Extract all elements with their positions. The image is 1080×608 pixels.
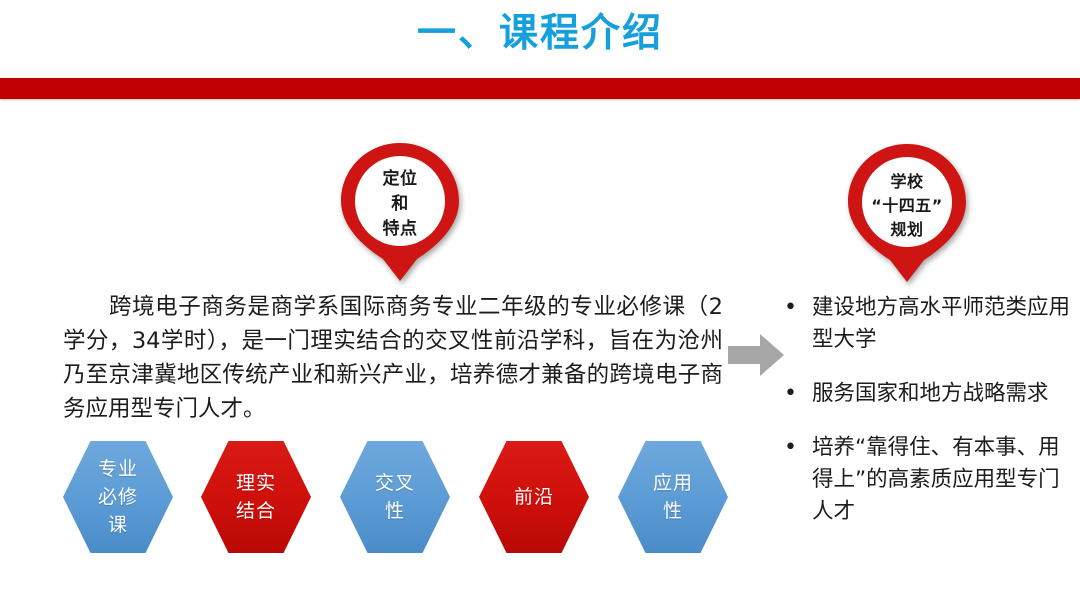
hexagon-line: 专业 bbox=[98, 455, 138, 483]
hexagon-applied: 应用 性 bbox=[618, 441, 728, 553]
course-description-paragraph: 跨境电子商务是商学系国际商务专业二年级的专业必修课（2学分，34学时），是一门理… bbox=[63, 290, 723, 426]
hexagon-label: 应用 性 bbox=[653, 469, 693, 525]
arrow-right-icon bbox=[726, 332, 786, 378]
hexagon-line: 理实 bbox=[236, 469, 276, 497]
school-plan-bullet-list: • 建设地方高水平师范类应用型大学 • 服务国家和地方战略需求 • 培养“靠得住… bbox=[778, 292, 1073, 550]
bullet-marker-icon: • bbox=[778, 378, 812, 410]
list-item: • 服务国家和地方战略需求 bbox=[778, 378, 1073, 410]
list-item: • 建设地方高水平师范类应用型大学 bbox=[778, 292, 1073, 356]
hexagon-line: 课 bbox=[98, 511, 138, 539]
map-pin-label: 定位 和 特点 bbox=[339, 167, 461, 242]
hexagon-line: 结合 bbox=[236, 497, 276, 525]
map-pin-school-plan: 学校 “十四五” 规划 bbox=[846, 142, 968, 284]
header-divider-bar bbox=[0, 78, 1080, 99]
hexagon-line: 性 bbox=[653, 497, 693, 525]
hexagon-line: 应用 bbox=[653, 469, 693, 497]
hexagon-label: 前沿 bbox=[514, 483, 554, 511]
hexagon-interdisciplinary: 交叉 性 bbox=[340, 441, 450, 553]
list-item-label: 建设地方高水平师范类应用型大学 bbox=[812, 292, 1073, 356]
hexagon-major-required-course: 专业 必修 课 bbox=[63, 441, 173, 553]
hexagon-line: 性 bbox=[375, 497, 415, 525]
map-pin-label: 学校 “十四五” 规划 bbox=[846, 170, 968, 242]
pin-line: 特点 bbox=[339, 217, 461, 242]
pin-line: 规划 bbox=[846, 218, 968, 242]
hexagon-line: 前沿 bbox=[514, 483, 554, 511]
bullet-marker-icon: • bbox=[778, 432, 812, 464]
hexagon-cutting-edge: 前沿 bbox=[479, 441, 589, 553]
list-item: • 培养“靠得住、有本事、用得上”的高素质应用型专门人才 bbox=[778, 432, 1073, 528]
hexagon-line: 必修 bbox=[98, 483, 138, 511]
map-pin-positioning: 定位 和 特点 bbox=[339, 141, 461, 283]
page-title: 一、课程介绍 bbox=[0, 8, 1080, 60]
list-item-label: 服务国家和地方战略需求 bbox=[812, 378, 1073, 410]
hexagon-label: 理实 结合 bbox=[236, 469, 276, 525]
hexagon-label: 专业 必修 课 bbox=[98, 455, 138, 539]
hexagon-line: 交叉 bbox=[375, 469, 415, 497]
pin-line: 学校 bbox=[846, 170, 968, 194]
hexagon-theory-practice: 理实 结合 bbox=[201, 441, 311, 553]
bullet-marker-icon: • bbox=[778, 292, 812, 324]
pin-line: 和 bbox=[339, 192, 461, 217]
hexagon-label: 交叉 性 bbox=[375, 469, 415, 525]
pin-line: “十四五” bbox=[846, 194, 968, 218]
pin-line: 定位 bbox=[339, 167, 461, 192]
slide-canvas: 一、课程介绍 定位 和 特点 学校 “十四五” 规划 跨境电子商务是商学系国际商… bbox=[0, 0, 1080, 608]
list-item-label: 培养“靠得住、有本事、用得上”的高素质应用型专门人才 bbox=[812, 432, 1073, 528]
